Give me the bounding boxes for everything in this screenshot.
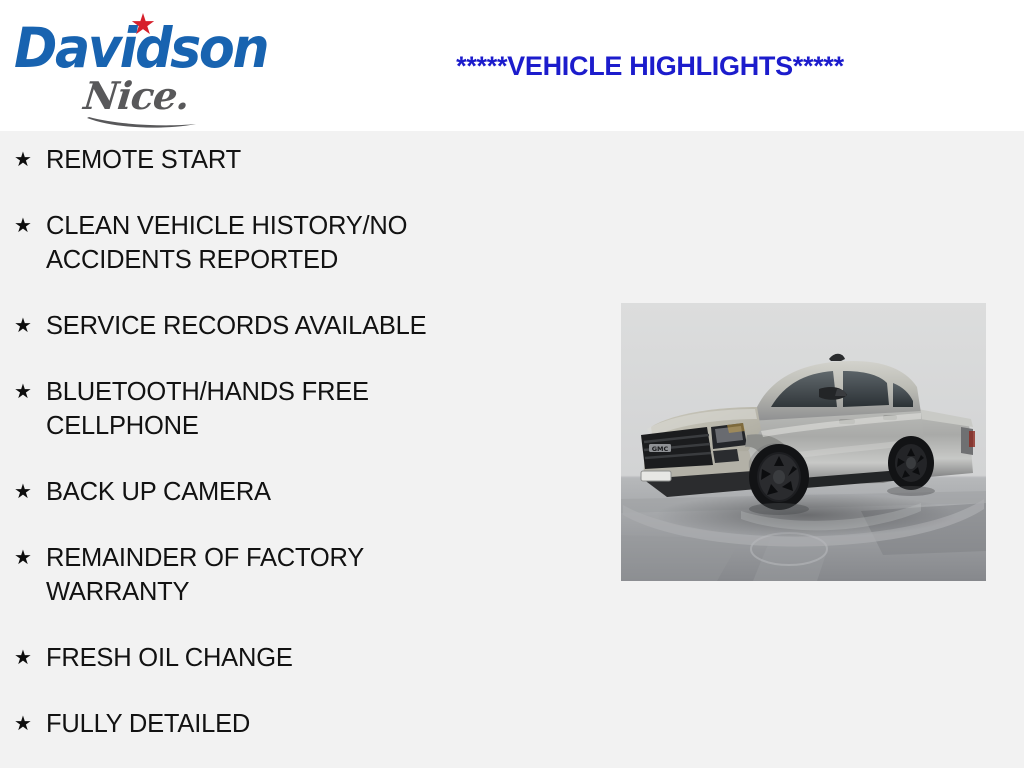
star-bullet-icon: ★ [14, 375, 46, 409]
list-item-label: BLUETOOTH/HANDS FREE CELLPHONE [46, 375, 496, 443]
star-bullet-icon: ★ [14, 541, 46, 575]
list-item: ★ REMAINDER OF FACTORY WARRANTY [0, 541, 560, 609]
page-title: *****VEHICLE HIGHLIGHTS***** [300, 51, 1000, 82]
list-item: ★ REMOTE START [0, 143, 560, 177]
list-item-label: SERVICE RECORDS AVAILABLE [46, 309, 496, 343]
list-item-label: FRESH OIL CHANGE [46, 641, 496, 675]
dealer-logo[interactable]: Davidson ★ Nice. [14, 8, 284, 126]
content-area: ★ REMOTE START ★ CLEAN VEHICLE HISTORY/N… [0, 131, 1024, 768]
vehicle-photo[interactable]: GMC [621, 303, 986, 581]
star-bullet-icon: ★ [14, 707, 46, 741]
logo-star-icon: ★ [128, 10, 158, 40]
list-item-label: REMOTE START [46, 143, 496, 177]
star-bullet-icon: ★ [14, 143, 46, 177]
star-bullet-icon: ★ [14, 475, 46, 509]
vehicle-highlights-list: ★ REMOTE START ★ CLEAN VEHICLE HISTORY/N… [0, 143, 560, 768]
logo-swoosh-icon [86, 116, 198, 130]
svg-text:GMC: GMC [652, 445, 669, 453]
list-item-label: CLEAN VEHICLE HISTORY/NO ACCIDENTS REPOR… [46, 209, 496, 277]
dealer-logo-location-text: Nice. [82, 76, 191, 116]
list-item: ★ FULLY DETAILED [0, 707, 560, 741]
list-item: ★ SERVICE RECORDS AVAILABLE [0, 309, 560, 343]
star-bullet-icon: ★ [14, 641, 46, 675]
page-header: Davidson ★ Nice. *****VEHICLE HIGHLIGHTS… [0, 0, 1024, 131]
list-item-label: REMAINDER OF FACTORY WARRANTY [46, 541, 496, 609]
star-bullet-icon: ★ [14, 209, 46, 243]
list-item: ★ CLEAN VEHICLE HISTORY/NO ACCIDENTS REP… [0, 209, 560, 277]
list-item: ★ BACK UP CAMERA [0, 475, 560, 509]
star-bullet-icon: ★ [14, 309, 46, 343]
list-item: ★ FRESH OIL CHANGE [0, 641, 560, 675]
list-item-label: FULLY DETAILED [46, 707, 496, 741]
list-item: ★ BLUETOOTH/HANDS FREE CELLPHONE [0, 375, 560, 443]
list-item-label: BACK UP CAMERA [46, 475, 496, 509]
